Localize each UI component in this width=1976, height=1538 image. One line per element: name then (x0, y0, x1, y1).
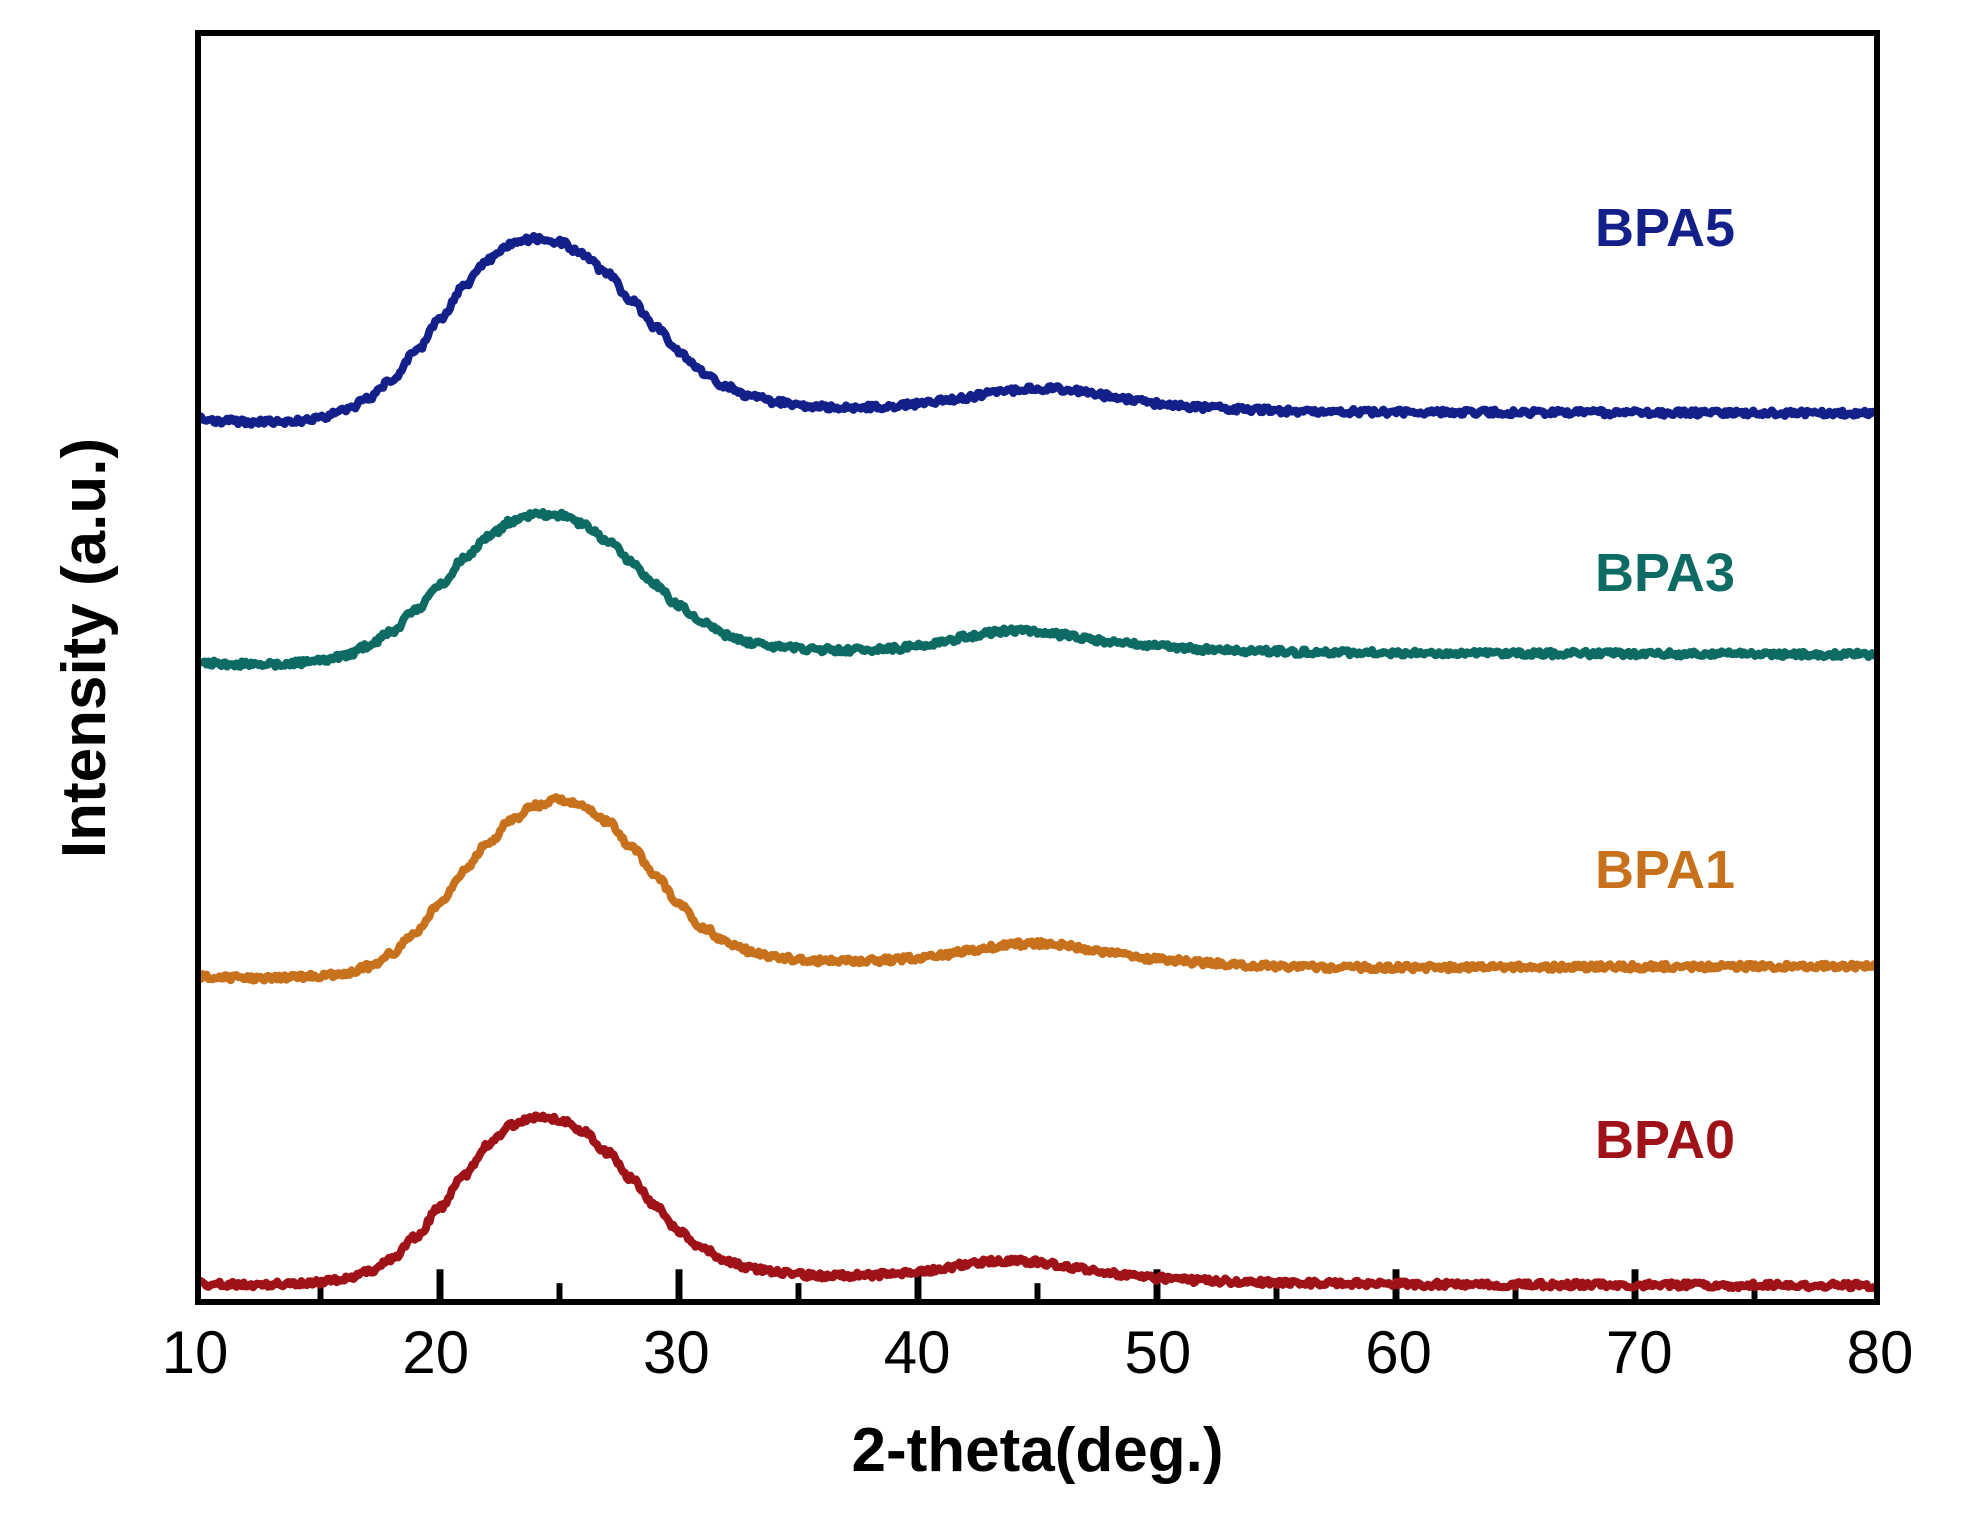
x-tick-label-20: 20 (402, 1318, 469, 1387)
x-tick-label-70: 70 (1606, 1318, 1673, 1387)
x-tick-label-80: 80 (1847, 1318, 1914, 1387)
x-tick-label-30: 30 (643, 1318, 710, 1387)
series-label-bpa1: BPA1 (1595, 839, 1735, 901)
x-axis-title: 2-theta(deg.) (195, 1415, 1880, 1486)
series-label-bpa5: BPA5 (1595, 197, 1735, 259)
series-line-bpa5 (201, 236, 1874, 425)
x-tick-label-50: 50 (1124, 1318, 1191, 1387)
x-tick-label-60: 60 (1365, 1318, 1432, 1387)
x-tick-label-40: 40 (884, 1318, 951, 1387)
xrd-figure: Intensity (a.u.) 1020304050607080 BPA5BP… (0, 0, 1976, 1538)
series-label-bpa3: BPA3 (1595, 542, 1735, 604)
series-label-bpa0: BPA0 (1595, 1109, 1735, 1171)
x-tick-label-10: 10 (162, 1318, 229, 1387)
y-axis-title: Intensity (a.u.) (50, 298, 120, 998)
